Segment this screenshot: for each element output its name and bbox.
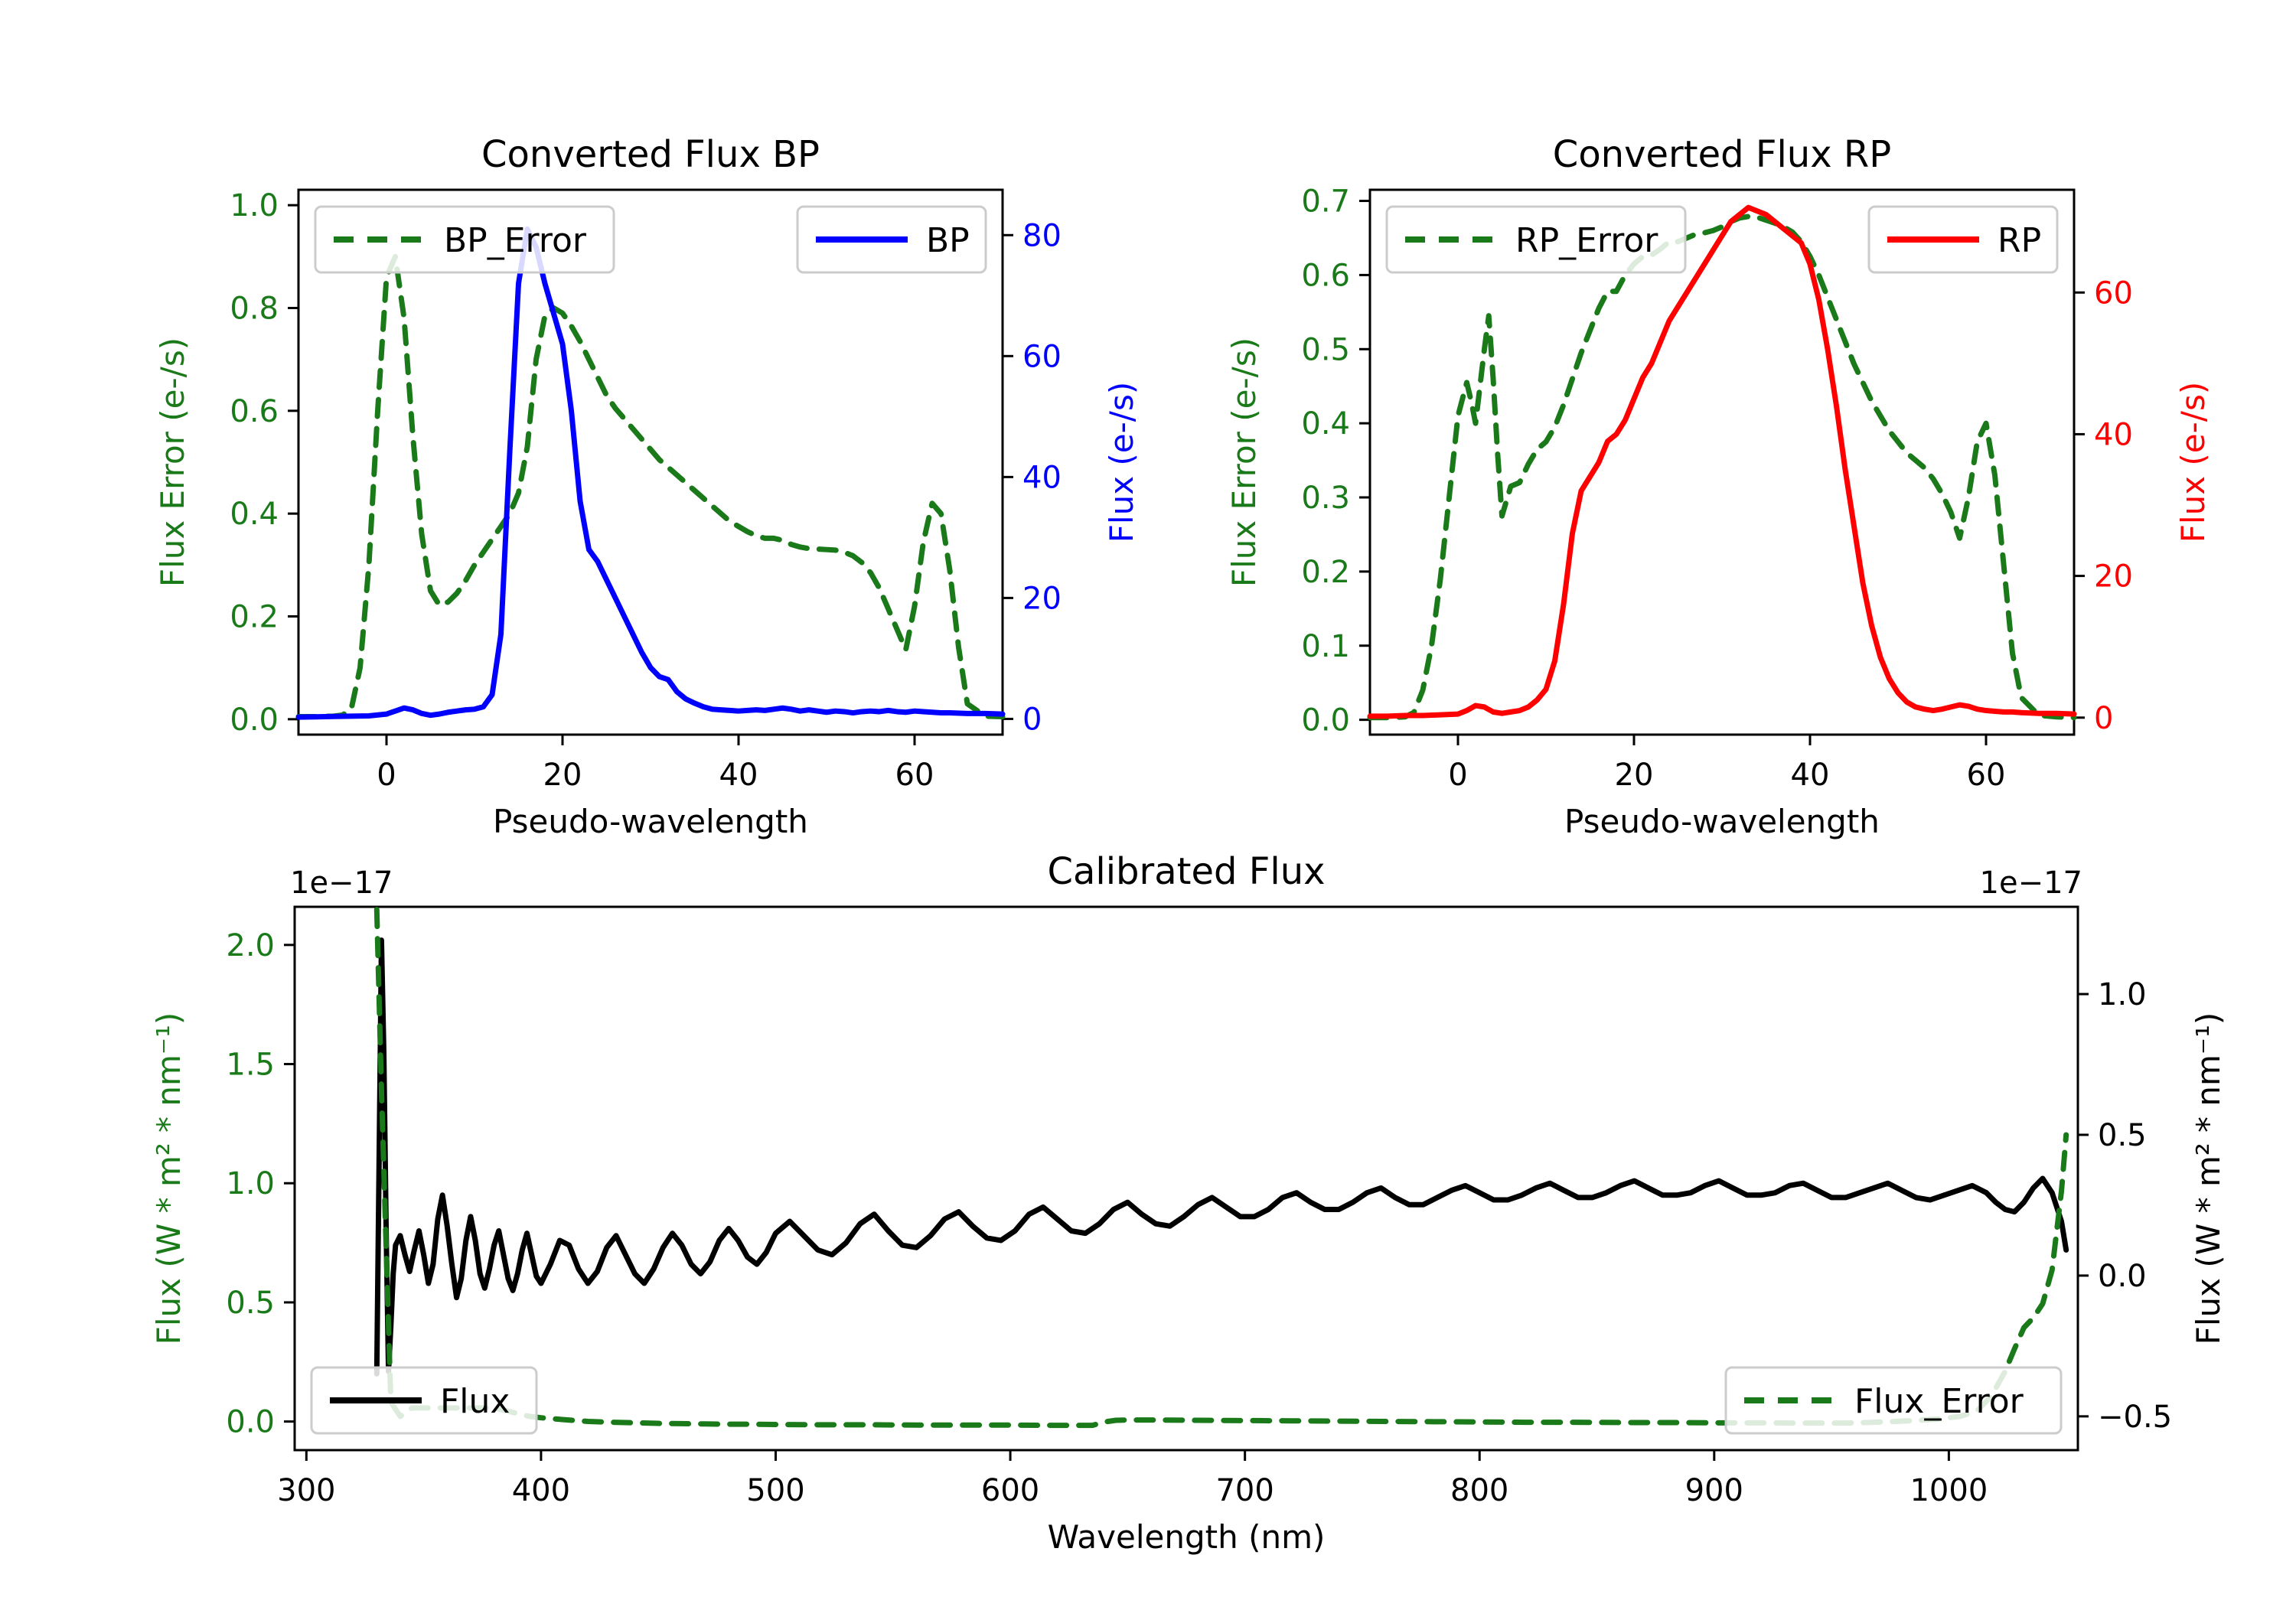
- y-left-tick-label: 0.2: [230, 600, 279, 635]
- x-tick-label: 40: [719, 758, 758, 793]
- y-left-tick-label: 1.0: [230, 188, 279, 223]
- y-right-tick-label: 0: [1022, 702, 1042, 737]
- y-right-tick-label: 80: [1022, 218, 1062, 253]
- x-tick-label: 0: [377, 758, 396, 793]
- legend-bp_error: BP_Error: [315, 207, 614, 272]
- y-left-tick-label: 0.5: [226, 1286, 275, 1321]
- x-tick-label: 60: [1967, 758, 2006, 793]
- y-right-tick-label: 0.5: [2098, 1118, 2147, 1153]
- x-tick-label: 60: [895, 758, 934, 793]
- x-tick-label: 300: [277, 1473, 335, 1508]
- y-left-axis-title-rp: Flux Error (e-/s): [1225, 337, 1263, 587]
- legend-rp_error: RP_Error: [1387, 207, 1685, 272]
- series-flux: [377, 940, 2066, 1374]
- y-right-axis-title-bp: Flux (e-/s): [1103, 382, 1140, 543]
- y-left-tick-label: 0.6: [1301, 258, 1350, 293]
- panel-calibrated: Calibrated Flux3004005006007008009001000…: [150, 850, 2227, 1556]
- x-tick-label: 400: [512, 1473, 570, 1508]
- y-left-tick-label: 0.3: [1301, 481, 1350, 516]
- y-left-tick-label: 0.1: [1301, 629, 1350, 664]
- y-right-tick-label: −0.5: [2098, 1400, 2172, 1435]
- y-left-axis-title-calibrated: Flux (W * m² * nm⁻¹): [150, 1012, 188, 1345]
- legend-flux: Flux: [311, 1367, 536, 1433]
- y-left-tick-label: 1.5: [226, 1048, 275, 1083]
- y-left-tick-label: 0.6: [230, 394, 279, 429]
- legend-label-bp: BP: [926, 221, 970, 260]
- panel-title-bp: Converted Flux BP: [481, 133, 820, 176]
- legend-label-rp_error: RP_Error: [1515, 221, 1658, 260]
- y-right-tick-label: 20: [1022, 581, 1062, 616]
- y-left-axis-title-bp: Flux Error (e-/s): [154, 337, 191, 587]
- x-tick-label: 600: [981, 1473, 1039, 1508]
- legend-label-rp: RP: [1998, 221, 2041, 260]
- legend-bp: BP: [797, 207, 986, 272]
- x-tick-label: 500: [746, 1473, 804, 1508]
- panel-title-calibrated: Calibrated Flux: [1047, 850, 1325, 893]
- y-left-tick-label: 0.5: [1301, 332, 1350, 367]
- y-right-tick-label: 40: [2094, 417, 2133, 452]
- y-left-offset-text: 1e−17: [290, 865, 393, 901]
- figure-canvas: Converted Flux BP0204060Pseudo-wavelengt…: [0, 0, 2296, 1607]
- x-axis-title-calibrated: Wavelength (nm): [1048, 1518, 1326, 1556]
- panel-bp: Converted Flux BP0204060Pseudo-wavelengt…: [154, 133, 1140, 840]
- legend-flux_error: Flux_Error: [1726, 1367, 2061, 1433]
- x-tick-label: 900: [1685, 1473, 1743, 1508]
- y-left-tick-label: 1.0: [226, 1166, 275, 1201]
- y-right-axis-title-calibrated: Flux (W * m² * nm⁻¹): [2190, 1012, 2227, 1345]
- y-right-tick-label: 0: [2094, 701, 2113, 736]
- x-tick-label: 800: [1450, 1473, 1508, 1508]
- x-tick-label: 700: [1215, 1473, 1274, 1508]
- x-axis-title-rp: Pseudo-wavelength: [1564, 803, 1880, 840]
- y-right-tick-label: 40: [1022, 460, 1062, 495]
- y-right-offset-text: 1e−17: [1980, 865, 2082, 901]
- x-tick-label: 20: [543, 758, 582, 793]
- y-left-tick-label: 0.0: [230, 702, 279, 738]
- y-left-tick-label: 0.7: [1301, 184, 1350, 220]
- y-right-tick-label: 60: [1022, 339, 1062, 374]
- series-bp_error: [298, 256, 1003, 716]
- panel-rp: Converted Flux RP0204060Pseudo-wavelengt…: [1225, 133, 2212, 840]
- x-tick-label: 1000: [1910, 1473, 1988, 1508]
- series-flux_error: [377, 910, 2066, 1426]
- y-left-tick-label: 0.4: [230, 497, 279, 532]
- y-left-tick-label: 0.4: [1301, 406, 1350, 442]
- x-tick-label: 0: [1448, 758, 1467, 793]
- y-right-tick-label: 0.0: [2098, 1259, 2147, 1294]
- y-left-tick-label: 0.8: [230, 291, 279, 326]
- legend-rp: RP: [1869, 207, 2057, 272]
- y-right-tick-label: 1.0: [2098, 977, 2147, 1012]
- y-right-axis-title-rp: Flux (e-/s): [2174, 382, 2212, 543]
- x-tick-label: 40: [1791, 758, 1830, 793]
- y-left-tick-label: 0.0: [226, 1405, 275, 1440]
- y-left-tick-label: 2.0: [226, 928, 275, 963]
- legend-label-flux: Flux: [440, 1382, 510, 1421]
- legend-label-flux_error: Flux_Error: [1854, 1382, 2024, 1421]
- panel-title-rp: Converted Flux RP: [1553, 133, 1891, 176]
- legend-label-bp_error: BP_Error: [444, 221, 587, 260]
- x-tick-label: 20: [1615, 758, 1654, 793]
- y-left-tick-label: 0.0: [1301, 703, 1350, 738]
- y-right-tick-label: 60: [2094, 275, 2133, 311]
- y-right-tick-label: 20: [2094, 559, 2133, 595]
- series-rp_error: [1370, 217, 2074, 718]
- figure-svg: Converted Flux BP0204060Pseudo-wavelengt…: [0, 0, 2296, 1607]
- x-axis-title-bp: Pseudo-wavelength: [493, 803, 808, 840]
- series-rp: [1370, 207, 2074, 716]
- y-left-tick-label: 0.2: [1301, 555, 1350, 590]
